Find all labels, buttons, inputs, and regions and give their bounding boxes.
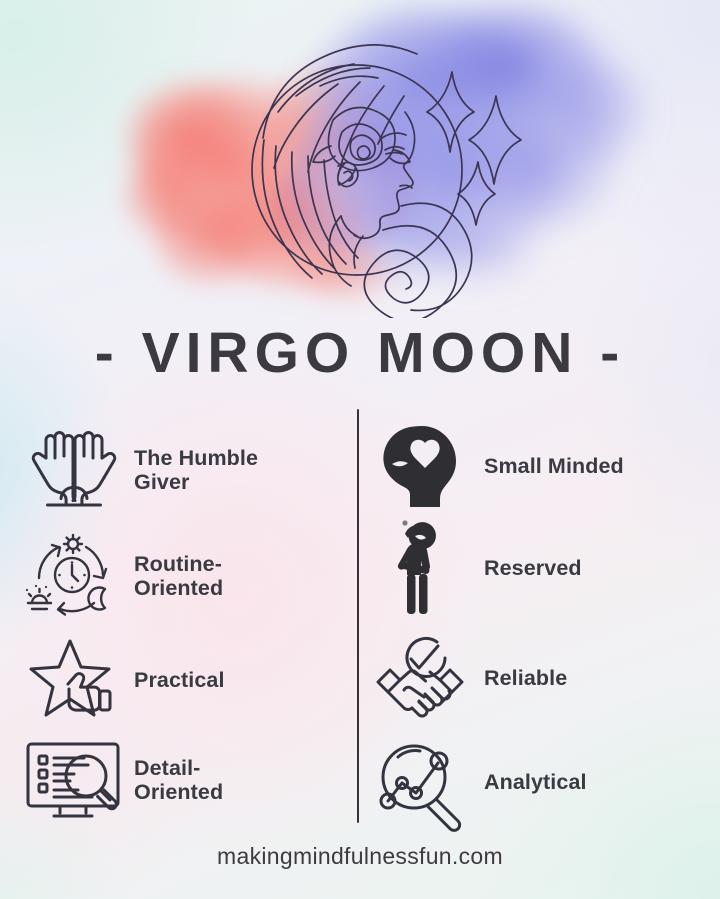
shy-person-icon [370,519,470,619]
star-thumbs-up-icon [22,631,126,731]
trait-label: Reserved [484,557,582,581]
trait-row-reserved: Reserved [370,519,700,619]
page-title: - VIRGO MOON - [0,322,720,386]
trait-row-humble-giver: The Humble Giver [22,421,352,521]
trait-label: The Humble Giver [134,447,258,494]
virgo-moon-poster: - VIRGO MOON - [0,0,720,899]
handshake-check-icon [370,629,470,729]
monitor-magnifier-icon [22,731,126,831]
trait-row-reliable: Reliable [370,629,700,729]
secondary-traits-column: Small Minded [370,409,700,823]
trait-label: Routine- Oriented [134,553,223,600]
column-divider [357,409,359,823]
trait-row-routine-oriented: Routine- Oriented [22,527,352,627]
trait-label: Analytical [484,771,587,795]
trait-label: Practical [134,669,225,693]
open-hands-icon [22,421,126,521]
trait-label: Detail- Oriented [134,757,223,804]
head-heart-icon [370,417,470,517]
virgo-maiden-illustration [0,0,720,318]
trait-row-practical: Practical [22,631,352,731]
trait-label: Small Minded [484,455,624,479]
trait-row-analytical: Analytical [370,733,700,833]
day-night-cycle-icon [22,527,126,627]
trait-row-detail-oriented: Detail- Oriented [22,731,352,831]
website-url: makingmindfulnessfun.com [0,843,720,870]
magnifier-network-icon [370,733,470,833]
trait-row-small-minded: Small Minded [370,417,700,517]
positive-traits-column: The Humble Giver [22,409,352,823]
trait-label: Reliable [484,667,567,691]
